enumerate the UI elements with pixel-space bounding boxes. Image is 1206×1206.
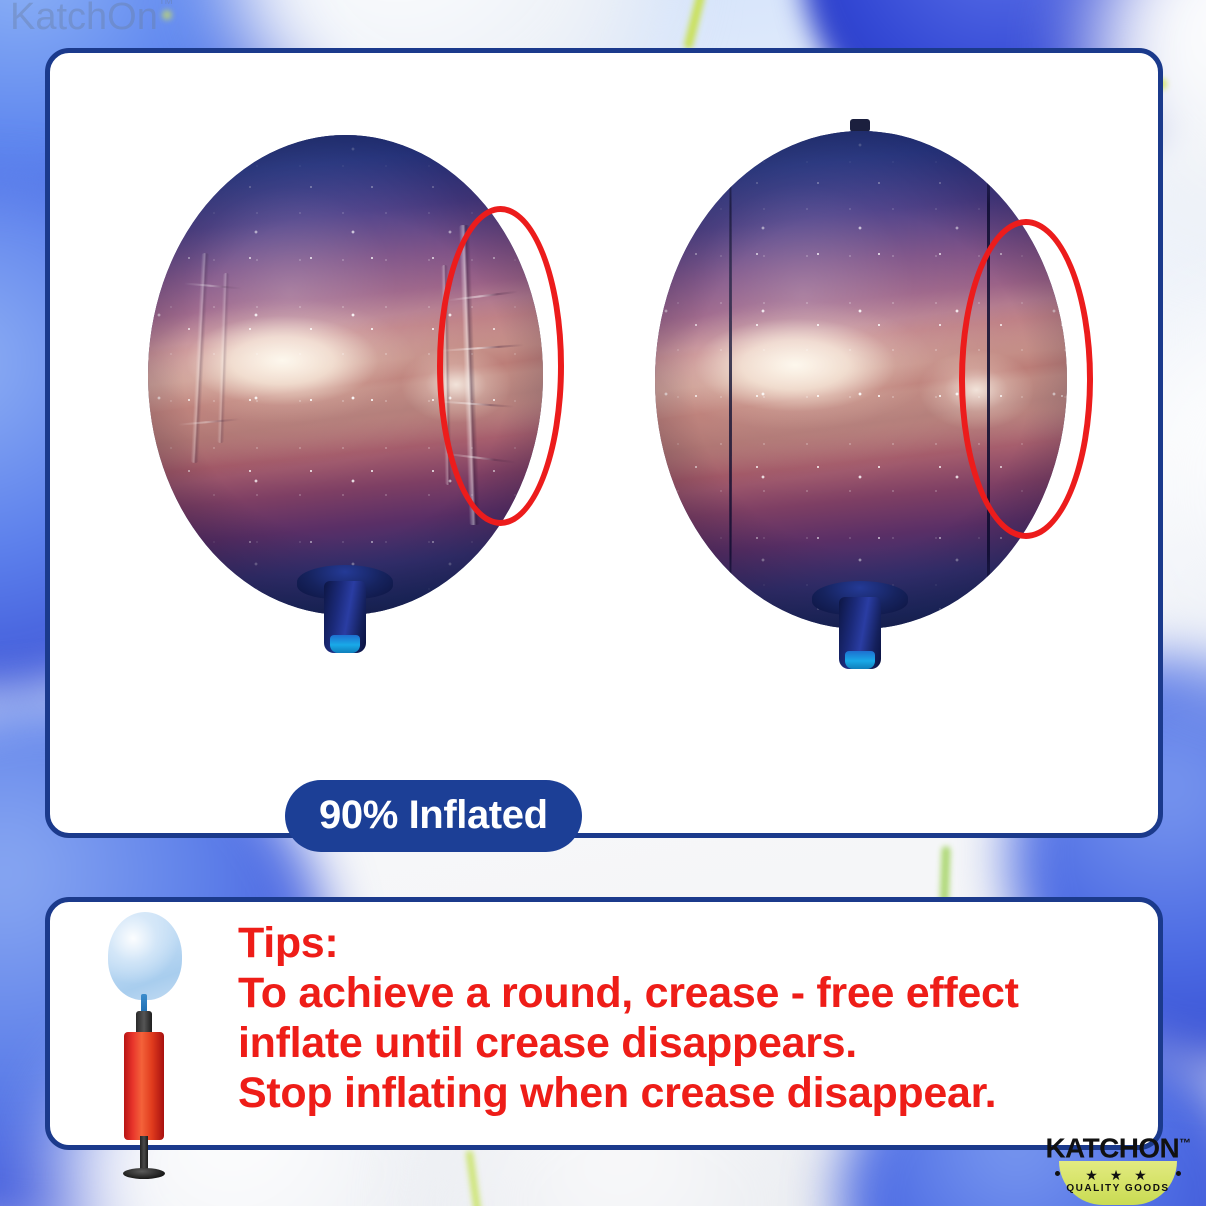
galaxy-orbz-balloon-90-percent xyxy=(140,113,550,643)
label-90-percent-inflated: 90% Inflated xyxy=(285,780,582,852)
watermark-trademark: ™ xyxy=(158,0,174,13)
balloon-pump-icon xyxy=(90,910,200,1135)
galaxy-orbz-balloon-100-percent xyxy=(645,113,1075,658)
tips-line-1: To achieve a round, crease - free effect xyxy=(238,968,1138,1018)
tips-text-block: Tips: To achieve a round, crease - free … xyxy=(238,918,1138,1118)
brand-stars: ★ ★ ★ xyxy=(1043,1167,1193,1184)
watermark-text: KatchOn xyxy=(10,0,158,38)
pump-base-icon xyxy=(123,1168,165,1179)
pump-rod-icon xyxy=(140,1136,148,1172)
crease-free-highlight-ellipse-right xyxy=(959,219,1093,539)
katchon-watermark: KatchOn™ xyxy=(10,0,174,39)
pump-balloon-icon xyxy=(108,912,182,1000)
brand-name: KATCHON™ xyxy=(1038,1128,1198,1163)
brand-trademark: ™ xyxy=(1179,1136,1190,1150)
balloon-valve-left xyxy=(324,581,366,653)
pump-cylinder-icon xyxy=(124,1032,164,1140)
infographic-canvas: KatchOn™ xyxy=(0,0,1206,1206)
figure-100-percent: 100% Inflated xyxy=(615,113,1105,658)
katchon-brand-logo: KATCHON™ ★ ★ ★ QUALITY GOODS xyxy=(1038,1128,1198,1202)
brand-name-text: KATCHON xyxy=(1045,1132,1179,1163)
tips-line-2: inflate until crease disappears. xyxy=(238,1018,1138,1068)
comparison-panel: 90% Inflated 100% I xyxy=(45,48,1163,838)
confetti-strand-top xyxy=(683,0,706,50)
figure-90-percent: 90% Inflated xyxy=(110,113,580,643)
crease-highlight-ellipse-left xyxy=(437,206,564,526)
balloon-valve-right xyxy=(839,597,881,669)
brand-tagline: QUALITY GOODS xyxy=(1043,1183,1193,1194)
tips-panel: Tips: To achieve a round, crease - free … xyxy=(45,897,1163,1150)
brand-arc: ★ ★ ★ QUALITY GOODS xyxy=(1043,1163,1193,1203)
tips-line-3: Stop inflating when crease disappear. xyxy=(238,1068,1138,1118)
tips-heading: Tips: xyxy=(238,918,1138,968)
